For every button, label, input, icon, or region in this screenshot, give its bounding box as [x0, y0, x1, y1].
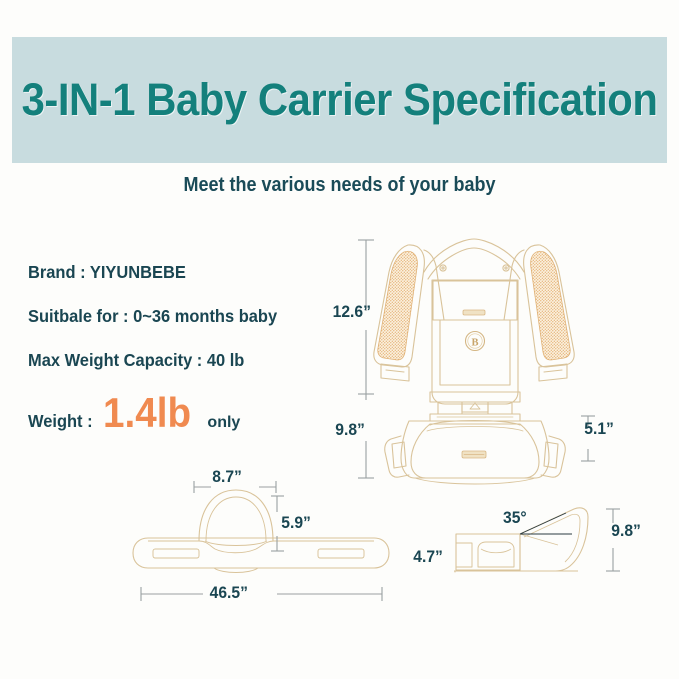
weight-label: Weight : — [28, 411, 93, 432]
dim-belt-dome-height: 5.9” — [281, 513, 311, 533]
carrier-dimension-lines — [358, 240, 595, 478]
spec-max-weight: Max Weight Capacity : 40 lb — [28, 350, 310, 371]
dim-side-back-height: 9.8” — [611, 521, 641, 541]
carrier-badge-letter: B — [471, 338, 478, 349]
weight-suffix: only — [207, 414, 240, 432]
header-banner: 3-IN-1 Baby Carrier Specification — [12, 37, 667, 163]
spec-list: Brand : YIYUNBEBE Suitbale for : 0~36 mo… — [28, 262, 328, 394]
waist-belt-illustration — [133, 490, 389, 573]
spec-weight: Weight : 1.4lb only — [28, 396, 240, 432]
spec-brand: Brand : YIYUNBEBE — [28, 262, 310, 283]
baby-carrier-front-view-illustration: B — [374, 239, 574, 484]
dim-hipseat-depth: 5.1” — [584, 419, 614, 439]
weight-value: 1.4lb — [103, 396, 191, 430]
dim-belt-top-width: 8.7” — [212, 467, 242, 487]
angle-leader-lines — [520, 513, 572, 534]
specification-page: 3-IN-1 Baby Carrier Specification Meet t… — [0, 0, 679, 679]
dim-side-seat-height: 4.7” — [413, 547, 443, 567]
dim-belt-total-length: 46.5” — [210, 583, 248, 603]
page-title: 3-IN-1 Baby Carrier Specification — [35, 37, 644, 163]
spec-suitable: Suitbale for : 0~36 months baby — [28, 306, 310, 327]
dim-carrier-seat-height: 9.8” — [335, 420, 365, 440]
subtitle: Meet the various needs of your baby — [34, 174, 645, 197]
dim-side-angle: 35° — [503, 508, 527, 528]
waist-belt-dimension-lines — [141, 481, 382, 601]
dim-carrier-body-height: 12.6” — [333, 302, 371, 322]
